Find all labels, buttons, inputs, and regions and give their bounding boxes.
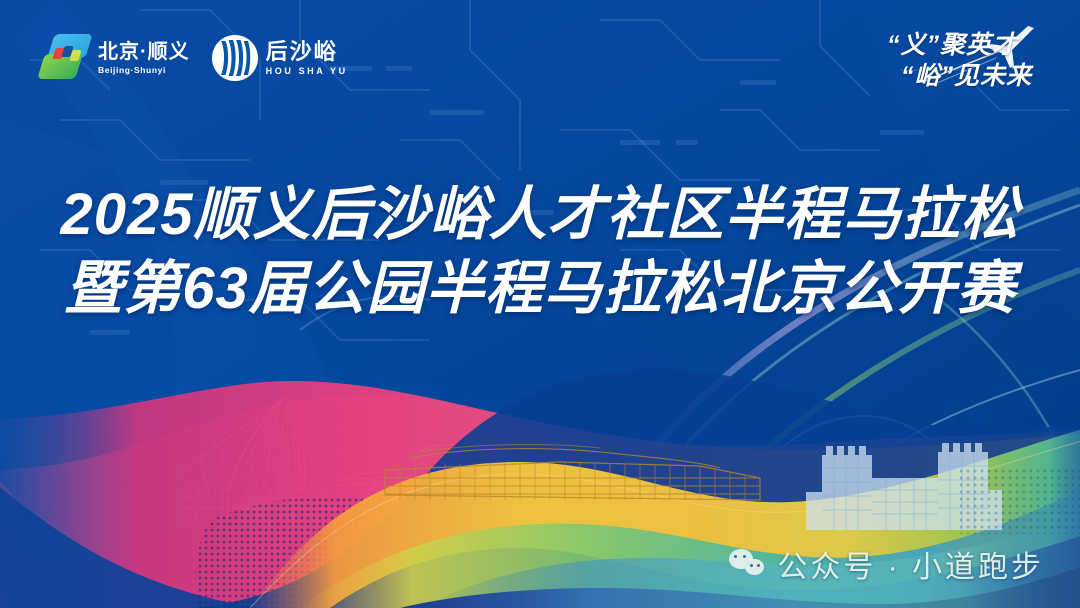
title-line-2: 暨第63届公园半程马拉松北京公开赛 bbox=[0, 252, 1080, 326]
title-line-1: 2025顺义后沙峪人才社区半程马拉松 bbox=[0, 178, 1080, 252]
slogan-block: “义”聚英才 “峪”见未来 bbox=[887, 30, 1032, 91]
watermark-text: 公众号 · 小道跑步 bbox=[777, 542, 1044, 586]
logo-beijing-shunyi: 北京·顺义 Beijing·Shunyi bbox=[38, 30, 190, 86]
wechat-watermark: 公众号 · 小道跑步 bbox=[729, 542, 1044, 586]
logo-hou-sha-yu: 后沙峪 HOU SHA YU bbox=[212, 35, 348, 81]
page-title: 2025顺义后沙峪人才社区半程马拉松 暨第63届公园半程马拉松北京公开赛 bbox=[0, 178, 1080, 326]
shunyi-logo-cn: 北京·顺义 bbox=[98, 42, 190, 62]
marathon-poster: 北京·顺义 Beijing·Shunyi 后沙峪 HOU SHA Y bbox=[0, 0, 1080, 608]
halftone-right bbox=[960, 468, 1080, 534]
slogan-line-1: “义”聚英才 bbox=[887, 30, 1032, 61]
logo-bar: 北京·顺义 Beijing·Shunyi 后沙峪 HOU SHA Y bbox=[38, 30, 348, 86]
shunyi-logo-en: Beijing·Shunyi bbox=[98, 66, 190, 75]
hou-sha-yu-circle-mark-icon bbox=[212, 35, 258, 81]
hou-sha-yu-logo-cn: 后沙峪 bbox=[266, 41, 348, 63]
slogan-line-2: “峪”见未来 bbox=[887, 61, 1032, 92]
hou-sha-yu-logo-en: HOU SHA YU bbox=[266, 67, 348, 76]
wechat-icon bbox=[729, 549, 767, 579]
shunyi-card-mark-icon bbox=[38, 30, 90, 86]
